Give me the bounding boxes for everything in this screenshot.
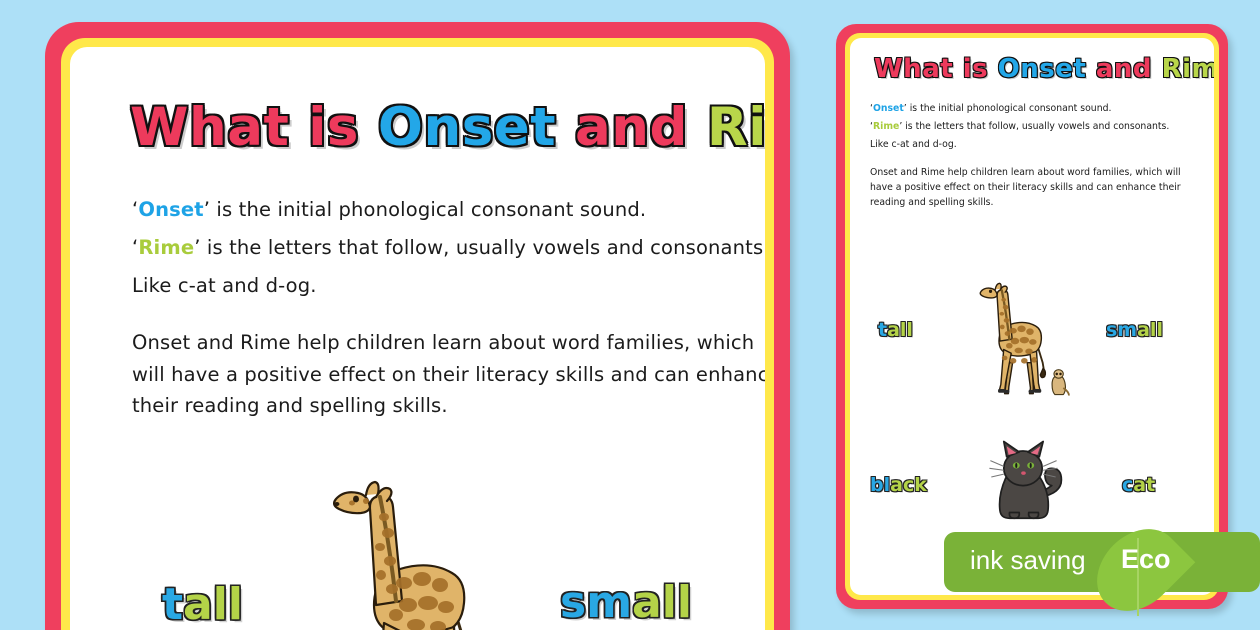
giraffe-and-meerkat-illustration [308, 455, 538, 630]
onset-part-small: sm [560, 577, 632, 628]
thumb-definition-line-rime: ‘Rime’ is the letters that follow, usual… [870, 118, 1200, 136]
example-line: Like c-at and d-og. [132, 267, 765, 305]
main-poster-inner-border: What is Onset and Rime? ‘Onset’ is the i… [61, 38, 774, 630]
definition-line-rime: ‘Rime’ is the letters that follow, usual… [132, 229, 765, 267]
word-label-small: small [560, 581, 692, 625]
page-title: What is Onset and Rime? [130, 101, 765, 154]
thumb-onset-part-cat: c [1122, 474, 1133, 496]
thumbnail-page-title: What is Onset and Rime? [874, 56, 1214, 82]
definition-rime-rest: ’ is the letters that follow, usually vo… [194, 236, 765, 259]
thumb-word-label-small: small [1106, 321, 1163, 340]
onset-part-tall: t [162, 579, 183, 630]
main-poster-frame[interactable]: What is Onset and Rime? ‘Onset’ is the i… [45, 22, 790, 630]
thumb-onset-part-black: bl [870, 474, 890, 496]
keyword-rime: Rime [138, 236, 194, 259]
poster-preview-canvas: What is Onset and Rime? ‘Onset’ is the i… [0, 0, 1260, 630]
explanation-paragraph: Onset and Rime help children learn about… [132, 327, 765, 422]
thumb-keyword-rime: Rime [873, 121, 899, 132]
thumb-word-label-black: black [870, 476, 927, 495]
thumbnail-poster-page: What is Onset and Rime? ‘Onset’ is the i… [850, 38, 1214, 595]
thumbnail-poster-frame[interactable]: What is Onset and Rime? ‘Onset’ is the i… [836, 24, 1228, 609]
word-label-tall: tall [162, 583, 243, 627]
thumb-word-label-tall: tall [878, 321, 913, 340]
thumb-title-part-onset: Onset [998, 54, 1096, 84]
thumbnail-body-text: ‘Onset’ is the initial phonological cons… [870, 100, 1200, 211]
thumb-rime-part-black: ack [890, 474, 927, 496]
title-part-onset: Onset [378, 97, 575, 158]
eco-badge-label: ink saving [970, 545, 1086, 576]
title-part-what-is: What is [130, 97, 378, 158]
thumb-keyword-onset: Onset [873, 103, 904, 114]
thumb-word-label-cat: cat [1122, 476, 1155, 495]
thumb-rime-part-cat: at [1133, 474, 1155, 496]
rime-part-small: all [632, 577, 692, 628]
poster-body-text: ‘Onset’ is the initial phonological cons… [132, 191, 765, 422]
thumb-onset-part-tall: t [878, 319, 887, 341]
thumb-onset-part-small: sm [1106, 319, 1137, 341]
rime-part-tall: all [183, 579, 243, 630]
black-cat-illustration [974, 428, 1072, 524]
thumbnail-poster-inner-border: What is Onset and Rime? ‘Onset’ is the i… [845, 33, 1219, 600]
thumb-rime-part-tall: all [887, 319, 913, 341]
thumb-rime-part-small: all [1137, 319, 1163, 341]
definition-onset-rest: ’ is the initial phonological consonant … [204, 198, 646, 221]
definition-line-onset: ‘Onset’ is the initial phonological cons… [132, 191, 765, 229]
title-part-and: and [575, 97, 707, 158]
thumb-title-part-rime: Rime? [1162, 54, 1214, 84]
thumb-example-line: Like c-at and d-og. [870, 136, 1200, 154]
thumb-explanation-paragraph: Onset and Rime help children learn about… [870, 165, 1200, 210]
thumb-definition-rime-rest: ’ is the letters that follow, usually vo… [899, 121, 1169, 132]
thumb-definition-line-onset: ‘Onset’ is the initial phonological cons… [870, 100, 1200, 118]
main-poster-page: What is Onset and Rime? ‘Onset’ is the i… [70, 47, 765, 630]
thumb-definition-onset-rest: ’ is the initial phonological consonant … [904, 103, 1112, 114]
eco-badge-eco-word: Eco [1121, 544, 1171, 575]
title-part-rime: Rime? [707, 97, 765, 158]
thumbnail-giraffe-and-meerkat-illustration [968, 260, 1076, 408]
ink-saving-eco-badge[interactable]: ink saving Eco [944, 524, 1260, 599]
keyword-onset: Onset [138, 198, 203, 221]
thumb-title-part-what-is: What is [874, 54, 998, 84]
thumb-title-part-and: and [1096, 54, 1162, 84]
